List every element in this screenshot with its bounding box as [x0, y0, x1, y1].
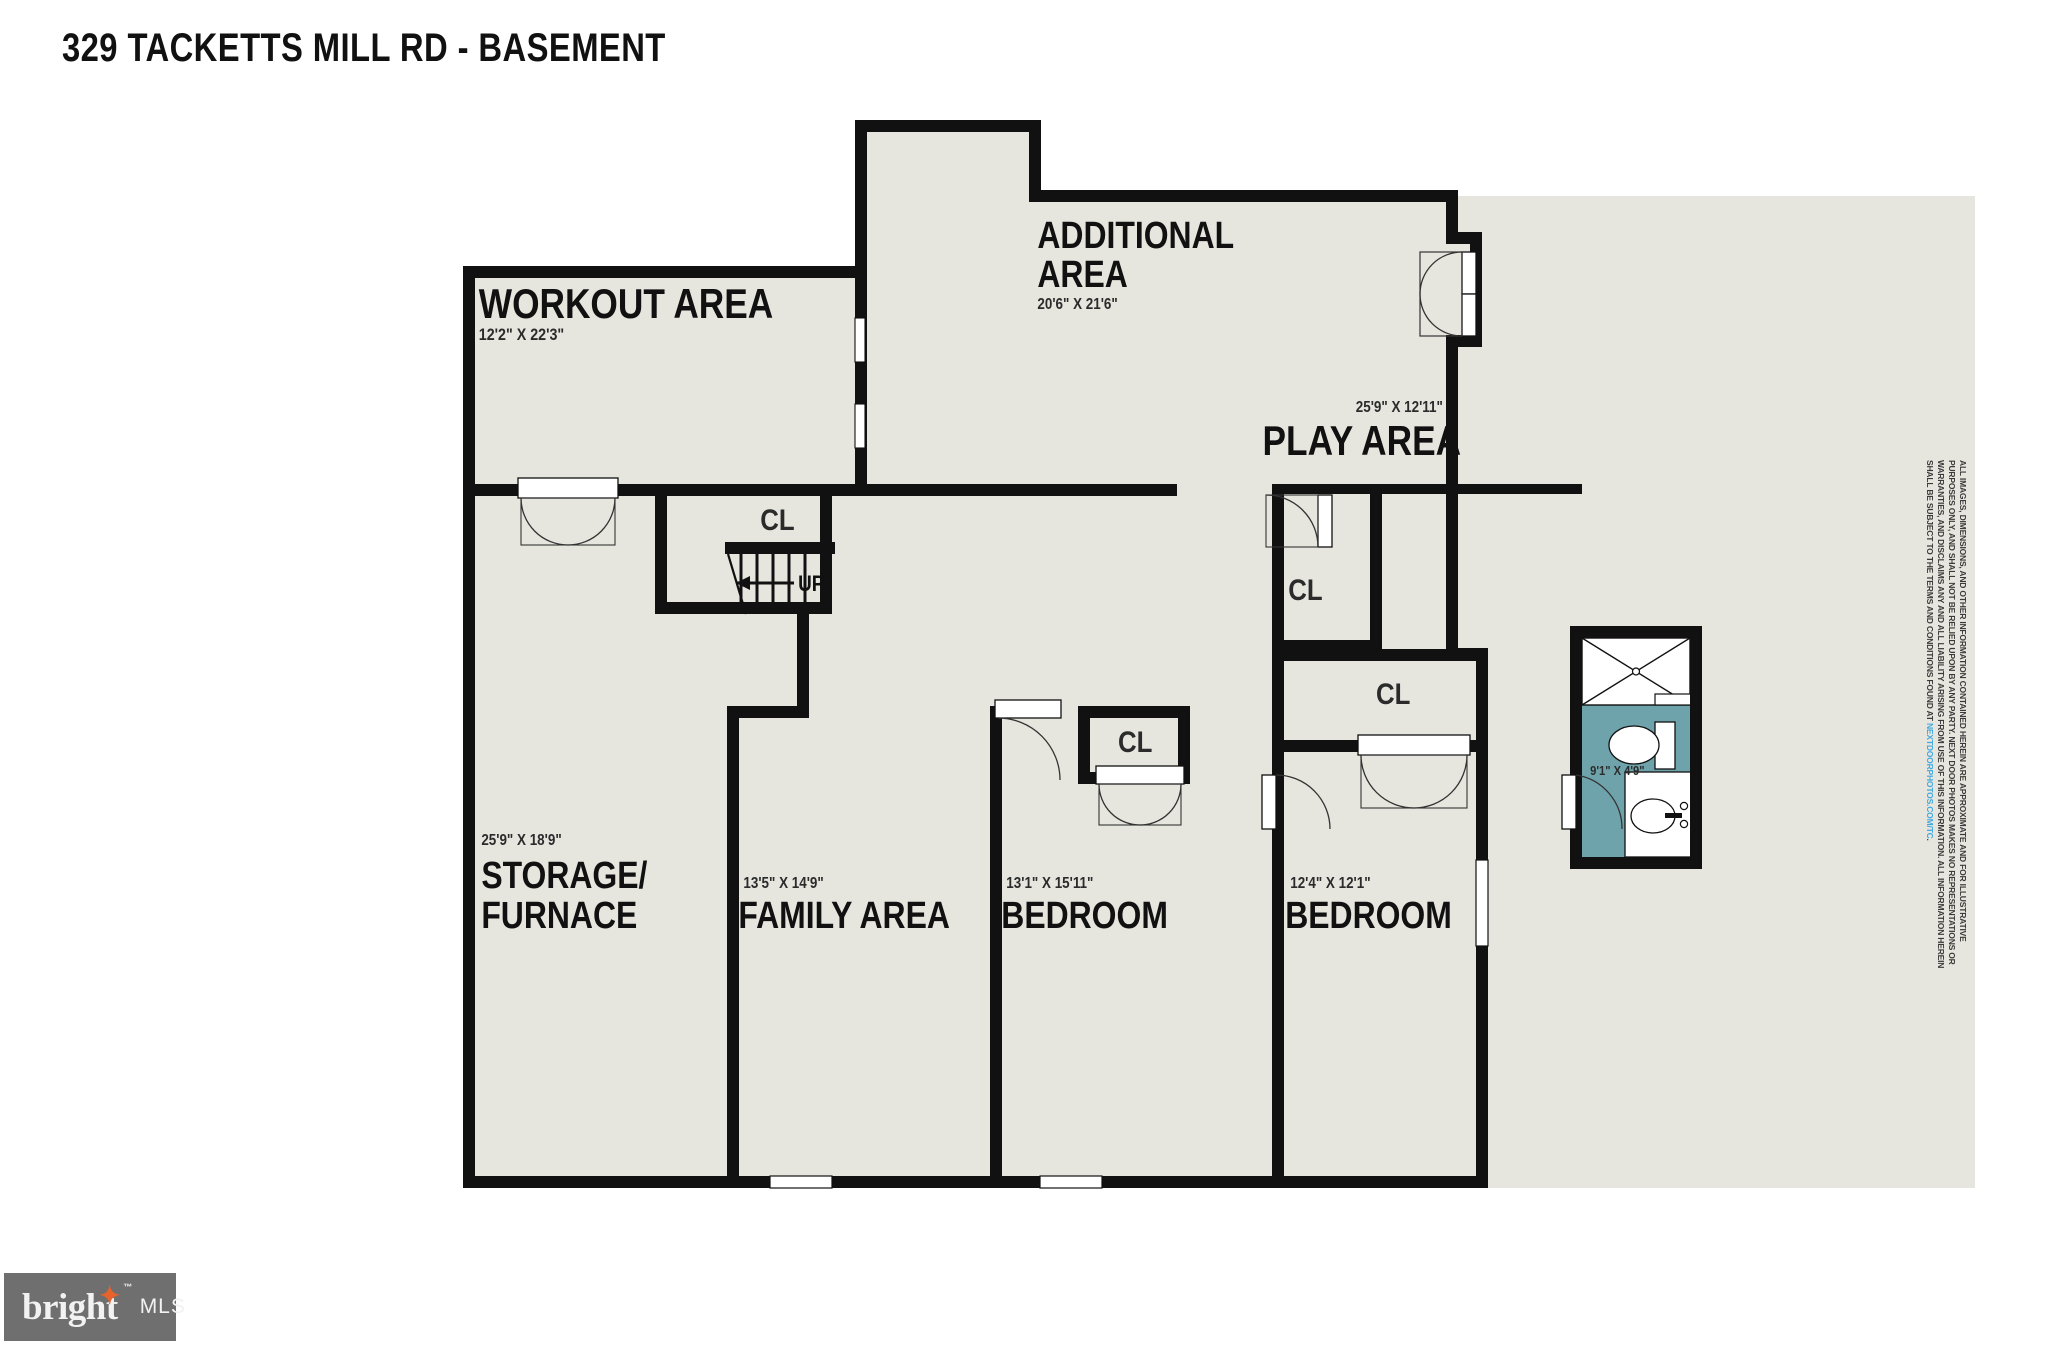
wall-br1-cl-left [1078, 706, 1090, 784]
wall-stair-top [855, 484, 1177, 496]
room-label-workout: WORKOUT AREA [479, 281, 773, 328]
disclaimer-text: ALL IMAGES, DIMENSIONS, AND OTHER INFORM… [1922, 460, 1968, 980]
room-dim-bedroom2: 12'4" X 12'1" [1290, 875, 1370, 892]
wall-br2-top [1272, 649, 1488, 661]
room-dim-storage: 25'9" X 18'9" [481, 832, 561, 849]
window-workout-1 [855, 318, 865, 362]
wall-cl-play-right [1370, 484, 1382, 649]
door-header-workout [518, 478, 618, 498]
wall-stair-left [655, 496, 667, 614]
window-family-area [770, 1176, 832, 1188]
disclaimer-link[interactable]: NEXTDOORPHOTOS.COM/TC [1925, 723, 1935, 839]
door-header-cl-br1 [1096, 766, 1184, 784]
wall-workout-right [855, 272, 867, 496]
floor-fill-upper-right [1452, 196, 1975, 660]
closet-label-play: CL [1288, 573, 1322, 606]
wall-bump-top [855, 120, 1041, 132]
room-label-additional-line2: AREA [1037, 253, 1127, 295]
wall-workout-top [463, 266, 867, 278]
stair-landing-bar [725, 542, 835, 554]
room-label-additional-line1: ADDITIONAL [1037, 214, 1234, 256]
room-dim-bathroom: 9'1" X 4'9" [1590, 763, 1644, 778]
wall-bath-top-angle [1570, 626, 1702, 638]
door-panel-cl-play [1318, 495, 1332, 547]
wall-br1-left [990, 706, 1002, 1188]
vanity-sink-fixture [1625, 772, 1691, 857]
window-workout-2 [855, 404, 865, 448]
stair-up-label: UP [798, 572, 824, 597]
bright-mls-logo: bright ✦ ™ MLS [4, 1273, 176, 1341]
wall-bath-bottom [1570, 857, 1702, 869]
wall-left-exterior [463, 266, 475, 1188]
wall-stair-step-h [727, 706, 809, 718]
logo-brand-text: bright ✦ ™ [22, 1289, 118, 1326]
wall-bump-right [1029, 120, 1041, 202]
wall-hall-top [1272, 484, 1582, 494]
floorplan-drawing: WORKOUT AREA 12'2" X 22'3" ADDITIONAL AR… [0, 0, 2047, 1346]
door-panel-right-lower [1462, 294, 1476, 336]
wall-bottom-exterior [463, 1176, 1488, 1188]
logo-mls-text: MLS [140, 1295, 186, 1319]
wall-cl-play-left [1272, 484, 1284, 649]
window-bedroom2 [1476, 860, 1488, 946]
wall-bath-left [1570, 626, 1582, 869]
wall-family-left [727, 706, 739, 1188]
room-dim-play: 25'9" X 12'11" [1356, 399, 1443, 416]
logo-trademark: ™ [123, 1283, 132, 1292]
wall-br2-left [1272, 649, 1284, 1188]
room-label-bedroom2: BEDROOM [1285, 894, 1452, 936]
wall-right-ext-2 [1446, 335, 1458, 660]
wall-bath-right [1690, 626, 1702, 869]
closet-label-stairs: CL [760, 503, 794, 536]
window-bedroom1 [1040, 1176, 1102, 1188]
door-panel-bath [1562, 775, 1576, 829]
closet-label-bedroom2: CL [1376, 677, 1410, 710]
disclaimer-period: . [1925, 839, 1935, 841]
room-dim-additional: 20'6" X 21'6" [1037, 296, 1117, 313]
door-panel-br2 [1262, 775, 1276, 829]
room-dim-workout: 12'2" X 22'3" [479, 326, 564, 344]
door-header-cl-br2 [1358, 735, 1470, 755]
room-dim-family: 13'5" X 14'9" [743, 875, 823, 892]
wall-additional-top [1029, 190, 1458, 202]
room-dim-bedroom1: 13'1" X 15'11" [1006, 875, 1093, 892]
room-label-bedroom1: BEDROOM [1001, 894, 1168, 936]
door-panel-right-upper [1462, 252, 1476, 294]
wall-bump-left [855, 120, 867, 272]
room-label-storage-line2: FURNACE [481, 894, 637, 936]
shower-drain-icon [1633, 668, 1640, 675]
disclaimer-body: ALL IMAGES, DIMENSIONS, AND OTHER INFORM… [1925, 460, 1968, 968]
room-label-storage-line1: STORAGE/ [481, 854, 647, 896]
room-label-family: FAMILY AREA [738, 894, 950, 936]
door-header-br1 [995, 700, 1061, 718]
logo-star-icon: ✦ [99, 1284, 119, 1309]
closet-label-bedroom1: CL [1118, 725, 1152, 758]
wall-stair-step-v [797, 602, 809, 712]
wall-br1-cl-top [1078, 706, 1190, 718]
room-label-play: PLAY AREA [1263, 418, 1462, 465]
